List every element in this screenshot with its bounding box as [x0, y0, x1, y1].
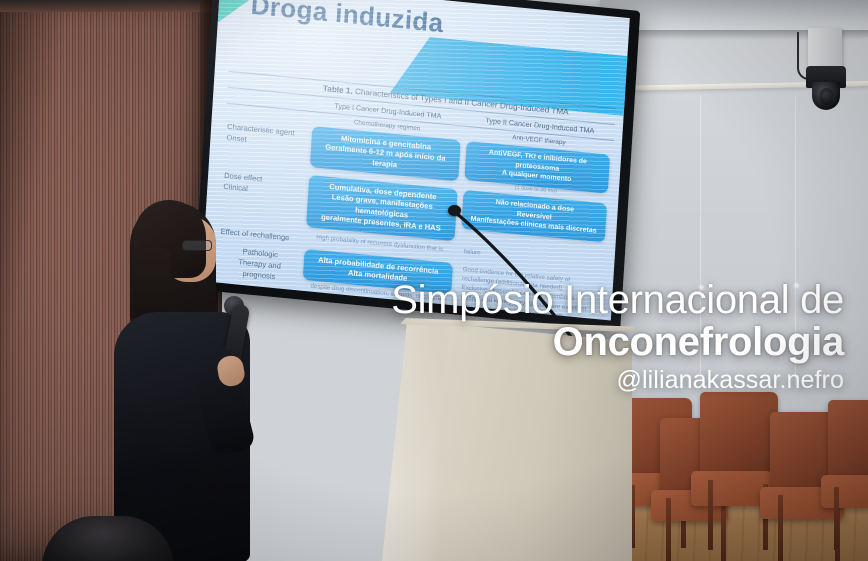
- podium-edge-highlight: [382, 320, 442, 561]
- chair-leg: [778, 495, 783, 561]
- highlight-box: Cumulativa, dose dependenteLesão grave, …: [306, 175, 458, 241]
- chair-back: [700, 392, 778, 480]
- overlay-title-line1: Simpósio Internacional de: [391, 278, 844, 323]
- camera-lens-icon: [820, 88, 833, 105]
- photo-stage: Droga induzida Table 1. Characteristics …: [0, 0, 868, 561]
- chair: [828, 400, 868, 550]
- wood-wall-top-shadow: [0, 0, 218, 12]
- row-label: Dose effectClinical: [221, 167, 306, 200]
- row-label: Characteristic agentOnset: [224, 118, 309, 151]
- presenter: [108, 196, 258, 561]
- chair-leg: [666, 498, 671, 561]
- chair-back: [828, 400, 868, 484]
- chair-leg: [834, 487, 839, 550]
- glasses-icon: [182, 240, 212, 251]
- chair: [700, 392, 778, 550]
- chair-leg: [708, 480, 713, 550]
- slide-title: Droga induzida: [250, 0, 445, 39]
- table-caption-label: Table 1.: [323, 84, 353, 96]
- overlay-handle: @lilianakassar.nefro: [617, 366, 845, 395]
- cable-clip: [448, 205, 461, 216]
- row-cell-left: Cumulativa, dose dependenteLesão grave, …: [303, 175, 461, 242]
- highlight-box: Não relacionado a doseReversívelManifest…: [461, 190, 607, 243]
- highlight-box: Mitomicina e gencitabinaGeralmente 6-12 …: [310, 126, 461, 182]
- slide-surface: Droga induzida Table 1. Characteristics …: [201, 0, 629, 320]
- overlay-title-line2: Onconefrologia: [553, 320, 844, 365]
- chair-seat: [821, 475, 868, 508]
